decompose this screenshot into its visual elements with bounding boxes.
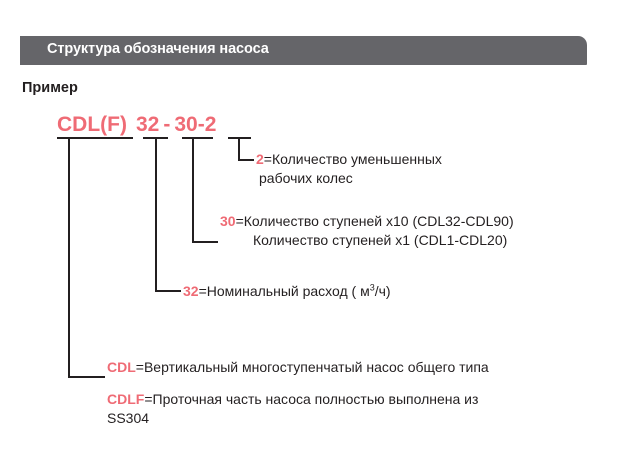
description-impellers: 2=Количество уменьшенных рабочих колес (256, 150, 442, 188)
description-cdl: CDL=Вертикальный многоступенчатый насос … (107, 358, 489, 377)
pump-designation-code: CDL(F)32-30-2 (57, 113, 216, 137)
description-impellers-text-2: рабочих колес (256, 169, 442, 188)
connector-line-prefix-vertical (68, 137, 70, 378)
example-label: Пример (22, 80, 78, 96)
code-segment-impellers: 2 (205, 113, 217, 137)
description-flow-equals: = (199, 283, 207, 299)
description-cdlf-code: CDLF (107, 391, 144, 407)
description-cdl-code: CDL (107, 359, 136, 375)
description-cdlf: CDLF=Проточная часть насоса полностью вы… (107, 390, 478, 428)
description-stages-equals: = (236, 213, 244, 229)
description-stages-line-1: 30=Количество ступеней x10 (CDL32-CDL90) (220, 212, 514, 231)
code-underline-stages (182, 137, 213, 139)
connector-line-impellers-vertical (238, 137, 240, 161)
description-stages-code: 30 (220, 213, 236, 229)
description-flow-code: 32 (183, 283, 199, 299)
description-cdl-line-1: CDL=Вертикальный многоступенчатый насос … (107, 358, 489, 377)
description-stages: 30=Количество ступеней x10 (CDL32-CDL90)… (220, 212, 514, 250)
connector-line-stages-horizontal (192, 241, 218, 243)
description-cdl-equals: = (136, 359, 144, 375)
description-cdlf-line-1: CDLF=Проточная часть насоса полностью вы… (107, 390, 478, 409)
description-flow-text-after-unit: /ч) (375, 283, 391, 299)
connector-line-flow-vertical (155, 137, 157, 292)
description-impellers-line-1: 2=Количество уменьшенных (256, 150, 442, 169)
description-cdl-text-1: Вертикальный многоступенчатый насос обще… (144, 359, 489, 375)
code-segment-stages: 30 (174, 113, 197, 137)
description-flow: 32=Номинальный расход ( м3/ч) (183, 282, 391, 301)
description-cdlf-equals: = (144, 391, 152, 407)
description-flow-text-before-unit: Номинальный расход ( м (207, 283, 370, 299)
connector-line-impellers-horizontal (238, 159, 254, 161)
description-impellers-text-1: Количество уменьшенных (272, 151, 442, 167)
code-segment-prefix: CDL(F) (57, 113, 127, 137)
description-stages-text-1: Количество ступеней x10 (CDL32-CDL90) (244, 213, 514, 229)
description-cdlf-text-1: Проточная часть насоса полностью выполне… (153, 391, 479, 407)
description-cdlf-text-2: SS304 (107, 409, 478, 428)
description-impellers-equals: = (264, 151, 272, 167)
connector-line-flow-horizontal (155, 290, 181, 292)
connector-line-stages-vertical (192, 137, 194, 243)
connector-line-prefix-horizontal (68, 376, 105, 378)
section-header-title: Структура обозначения насоса (47, 41, 269, 57)
description-stages-text-2: Количество ступеней x1 (CDL1-CDL20) (220, 231, 514, 250)
code-separator-dash-1: - (163, 113, 170, 137)
code-segment-flow: 32 (136, 113, 159, 137)
description-impellers-code: 2 (256, 151, 264, 167)
code-separator-dash-2: - (198, 113, 205, 137)
description-flow-line-1: 32=Номинальный расход ( м3/ч) (183, 282, 391, 301)
